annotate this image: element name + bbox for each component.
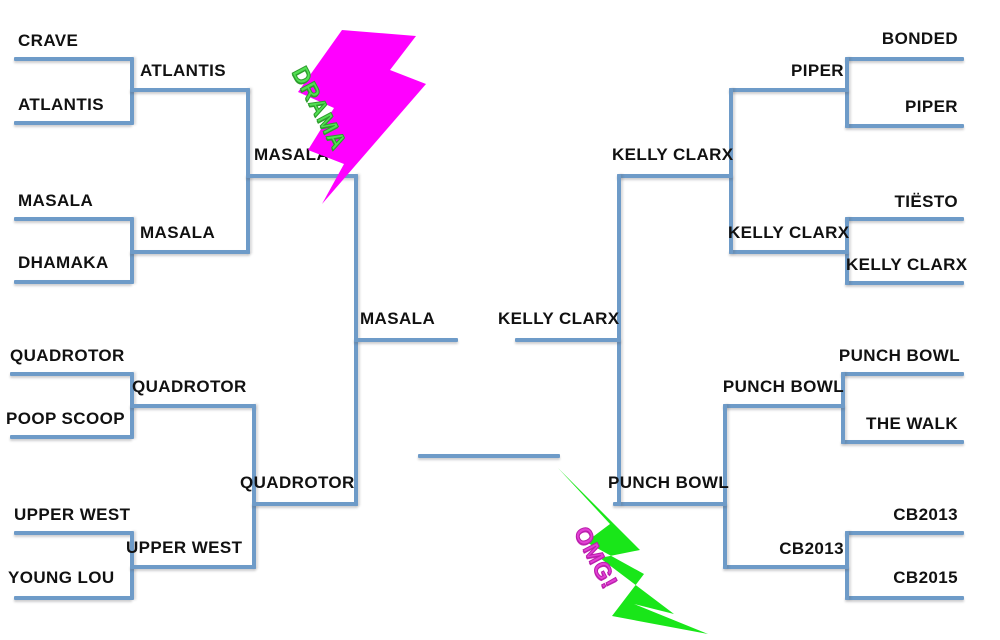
bracket-line-right-r1-6 [841, 440, 964, 444]
slot-right-r1-4[interactable]: KELLY CLARX [846, 256, 958, 273]
slot-left-r1-5[interactable]: QUADROTOR [10, 347, 138, 364]
bracket-line-left-final [354, 338, 458, 342]
slot-right-r2-3[interactable]: PUNCH BOWL [720, 378, 844, 395]
bracket-line-left-r1-5 [10, 372, 132, 376]
slot-left-r1-3[interactable]: MASALA [18, 192, 138, 209]
slot-right-r2-1[interactable]: PIPER [748, 62, 844, 79]
slot-right-r1-5[interactable]: PUNCH BOWL [838, 347, 960, 364]
bracket-line-left-r1-1 [14, 57, 132, 61]
bracket-line-left-r1-8 [14, 596, 132, 600]
bracket-line-right-final [515, 338, 621, 342]
bracket-line-left-r2-4 [130, 565, 256, 569]
slot-left-r2-1[interactable]: ATLANTIS [140, 62, 252, 79]
slot-right-r1-8[interactable]: CB2015 [858, 569, 958, 586]
slot-left-r1-8[interactable]: YOUNG LOU [8, 569, 138, 586]
slot-left-r2-3[interactable]: QUADROTOR [132, 378, 252, 395]
slot-left-r1-1[interactable]: CRAVE [18, 32, 138, 49]
bracket-connector-right-r1-a [845, 57, 849, 128]
bracket-line-right-r3-1 [617, 174, 733, 178]
bracket-line-right-r2-4 [723, 565, 849, 569]
bracket-line-right-r2-2 [729, 250, 849, 254]
bracket-line-left-r3-2 [252, 502, 358, 506]
bracket-line-right-r1-4 [845, 281, 964, 285]
bracket-line-right-r1-1 [845, 57, 964, 61]
bracket-line-right-r1-5 [841, 372, 964, 376]
slot-left-r1-4[interactable]: DHAMAKA [18, 254, 138, 271]
bracket-line-left-r1-3 [14, 217, 132, 221]
slot-left-r1-6[interactable]: POOP SCOOP [6, 410, 138, 427]
bracket-line-left-r1-2 [14, 121, 132, 125]
bracket-line-left-r2-2 [130, 250, 250, 254]
slot-right-final[interactable]: KELLY CLARX [498, 310, 614, 327]
slot-right-r1-1[interactable]: BONDED [858, 30, 958, 47]
slot-right-r1-6[interactable]: THE WALK [850, 415, 958, 432]
bracket-line-right-r1-8 [845, 596, 964, 600]
bracket-line-left-r2-1 [130, 88, 250, 92]
bracket-line-right-r1-7 [845, 531, 964, 535]
bracket-line-left-r2-3 [130, 404, 256, 408]
bracket-canvas: CRAVE ATLANTIS MASALA DHAMAKA QUADROTOR … [0, 0, 1000, 640]
bracket-line-left-r1-7 [14, 531, 132, 535]
bracket-line-right-r1-2 [845, 124, 964, 128]
slot-right-r2-4[interactable]: CB2013 [748, 540, 844, 557]
champion-line[interactable] [418, 454, 560, 458]
bracket-line-right-r2-1 [729, 88, 849, 92]
slot-left-r2-4[interactable]: UPPER WEST [126, 539, 252, 556]
omg-lightning-bolt[interactable]: OMG! [548, 462, 713, 640]
bracket-line-left-r1-4 [14, 280, 132, 284]
slot-left-r3-2[interactable]: QUADROTOR [240, 474, 358, 491]
drama-lightning-bolt[interactable]: DRAMA [286, 22, 436, 212]
slot-right-r2-2[interactable]: KELLY CLARX [728, 224, 844, 241]
bracket-line-right-r1-3 [845, 217, 964, 221]
slot-left-r1-7[interactable]: UPPER WEST [14, 506, 138, 523]
slot-left-r2-2[interactable]: MASALA [140, 224, 252, 241]
bracket-line-right-r2-3 [723, 404, 845, 408]
bracket-line-left-r1-6 [10, 435, 132, 439]
slot-left-r1-2[interactable]: ATLANTIS [18, 96, 138, 113]
slot-right-r3-1[interactable]: KELLY CLARX [612, 146, 728, 163]
slot-right-r1-2[interactable]: PIPER [858, 98, 958, 115]
slot-left-final[interactable]: MASALA [360, 310, 460, 327]
slot-right-r1-7[interactable]: CB2013 [858, 506, 958, 523]
slot-right-r1-3[interactable]: TIËSTO [858, 193, 958, 210]
